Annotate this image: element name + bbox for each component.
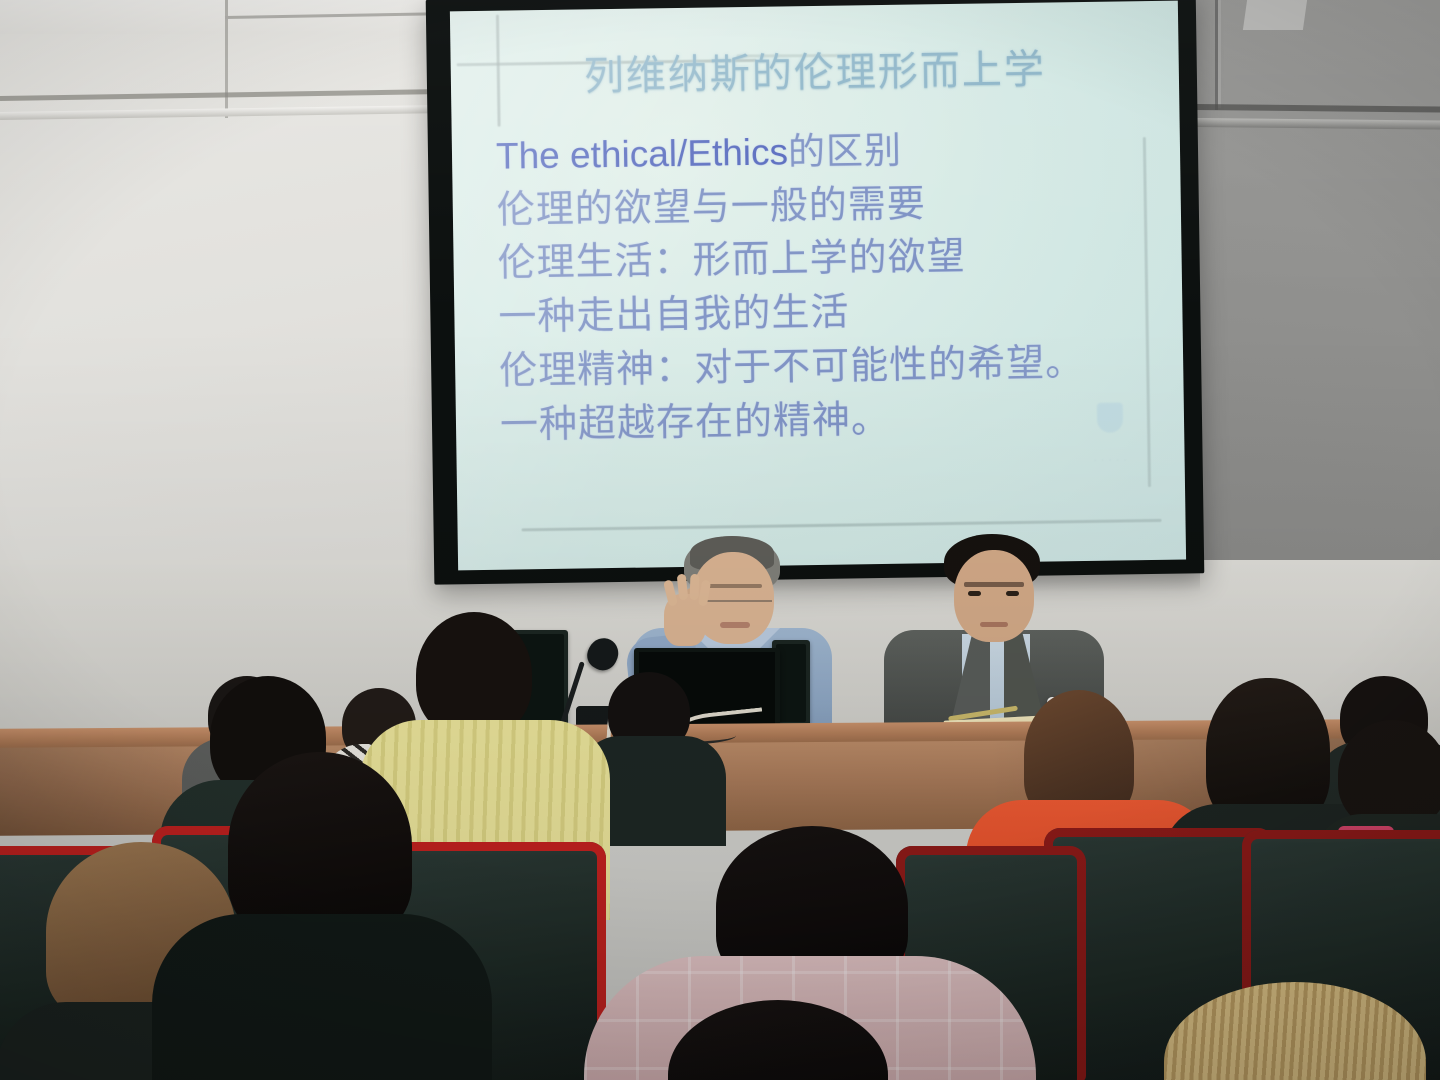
speaker-left-mouth xyxy=(720,622,750,628)
slide-title: 列维纳斯的伦理形而上学 xyxy=(450,35,1179,104)
slide-line-1-latin: The ethical/Ethics xyxy=(496,131,789,176)
speaker-right-eye-right xyxy=(1006,591,1019,596)
lecture-hall-photo: · · · · · 列维纳斯的伦理形而上学 The ethical/Ethics… xyxy=(0,0,1440,1080)
audience-member-front-center-head xyxy=(638,1000,918,1080)
aud-body xyxy=(152,914,492,1080)
slide-line-3: 伦理生活：形而上学的欲望 xyxy=(497,228,1148,292)
monitor-right-screen xyxy=(776,644,806,722)
finger-1 xyxy=(663,579,678,606)
slide-line-6: 一种超越存在的精神。 xyxy=(500,389,1151,453)
aud-head-hair xyxy=(1164,982,1426,1080)
speaker-right-mouth xyxy=(980,622,1008,627)
projection-screen-frame: · · · · · 列维纳斯的伦理形而上学 The ethical/Ethics… xyxy=(426,0,1205,585)
audience-member-blonde xyxy=(1154,982,1440,1080)
slide-content: 列维纳斯的伦理形而上学 The ethical/Ethics的区别 伦理的欲望与… xyxy=(450,1,1186,571)
aud-head xyxy=(228,752,412,940)
wall-seam-right-b xyxy=(1218,0,1221,108)
slide-line-4: 一种走出自我的生活 xyxy=(498,281,1149,345)
slide-line-5: 伦理精神：对于不可能性的希望。 xyxy=(499,335,1150,399)
speaker-right-head xyxy=(954,550,1034,642)
projection-screen-surface: · · · · · 列维纳斯的伦理形而上学 The ethical/Ethics… xyxy=(450,1,1186,571)
speaker-right-eye-left xyxy=(968,591,981,596)
slide-line-1: The ethical/Ethics的区别 xyxy=(496,121,1147,183)
aud-head xyxy=(668,1000,888,1080)
ceiling-fixture xyxy=(1243,0,1307,30)
slide-line-1-cjk: 的区别 xyxy=(788,129,903,174)
slide-line-2: 伦理的欲望与一般的需要 xyxy=(496,174,1147,238)
slide-body: The ethical/Ethics的区别 伦理的欲望与一般的需要 伦理生活：形… xyxy=(496,121,1151,453)
speaker-right-brow xyxy=(964,582,1024,587)
audience-member-dark-front-left xyxy=(182,752,462,1080)
finger-3 xyxy=(690,574,700,600)
